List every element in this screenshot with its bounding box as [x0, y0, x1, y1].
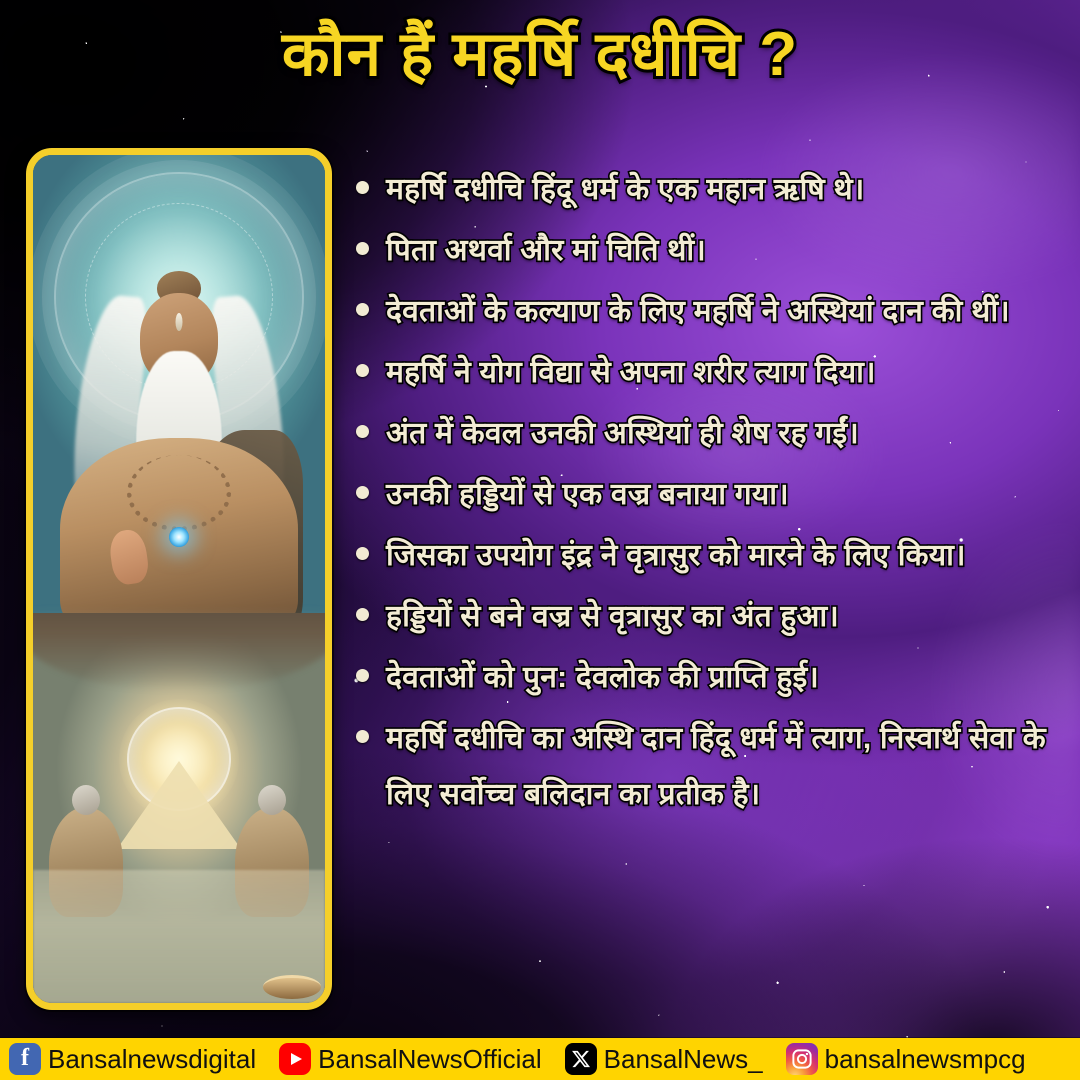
list-item: उनकी हड्डियों से एक वज्र बनाया गया।	[356, 467, 1056, 523]
list-item: देवताओं के कल्याण के लिए महर्षि ने अस्थि…	[356, 284, 1056, 340]
list-item-text: महर्षि ने योग विद्या से अपना शरीर त्याग …	[386, 345, 1056, 401]
bullet-dot-icon	[356, 730, 369, 743]
facebook-icon[interactable]: f	[9, 1043, 41, 1075]
list-item: अंत में केवल उनकी अस्थियां ही शेष रह गईं…	[356, 406, 1056, 462]
bullet-dot-icon	[356, 364, 369, 377]
list-item: महर्षि दधीचि का अस्थि दान हिंदू धर्म में…	[356, 711, 1056, 823]
stepped-altar	[117, 761, 241, 849]
bullet-dot-icon	[356, 181, 369, 194]
list-item: पिता अथर्वा और मां चिति थीं।	[356, 223, 1056, 279]
list-item-text: अंत में केवल उनकी अस्थियां ही शेष रह गईं…	[386, 406, 1056, 462]
list-item-text: महर्षि दधीचि हिंदू धर्म के एक महान ऋषि थ…	[386, 162, 1056, 218]
list-item-text: महर्षि दधीचि का अस्थि दान हिंदू धर्म में…	[386, 711, 1056, 823]
rudraksha-mala	[127, 455, 231, 531]
list-item-text: हड्डियों से बने वज्र से वृत्रासुर का अंत…	[386, 589, 1056, 645]
bullet-dot-icon	[356, 547, 369, 560]
social-account-x[interactable]: BansalNews_	[556, 1038, 771, 1080]
offering-bowl	[263, 975, 321, 999]
list-item-text: देवताओं को पुन: देवलोक की प्राप्ति हुई।	[386, 650, 1056, 706]
youtube-icon[interactable]	[279, 1043, 311, 1075]
social-account-instagram[interactable]: bansalnewsmpcg	[777, 1038, 1034, 1080]
list-item-text: पिता अथर्वा और मां चिति थीं।	[386, 223, 1056, 279]
glowing-gem	[169, 527, 189, 547]
sage-meditation-scene	[33, 155, 325, 630]
facts-list: महर्षि दधीचि हिंदू धर्म के एक महान ऋषि थ…	[356, 162, 1056, 828]
youtube-handle: BansalNewsOfficial	[318, 1046, 542, 1072]
list-item: महर्षि दधीचि हिंदू धर्म के एक महान ऋषि थ…	[356, 162, 1056, 218]
sage-tilak	[176, 313, 183, 331]
page-title: कौन हैं महर्षि दधीचि ?	[0, 16, 1080, 94]
list-item-text: देवताओं के कल्याण के लिए महर्षि ने अस्थि…	[386, 284, 1056, 340]
instagram-handle: bansalnewsmpcg	[825, 1046, 1026, 1072]
social-account-youtube[interactable]: BansalNewsOfficial	[270, 1038, 550, 1080]
illustration-card	[26, 148, 332, 1010]
bullet-dot-icon	[356, 608, 369, 621]
bullet-dot-icon	[356, 425, 369, 438]
facebook-handle: Bansalnewsdigital	[48, 1046, 256, 1072]
instagram-icon[interactable]	[786, 1043, 818, 1075]
bullet-dot-icon	[356, 303, 369, 316]
bullet-dot-icon	[356, 669, 369, 682]
social-footer-bar: f Bansalnewsdigital BansalNewsOfficial B…	[0, 1038, 1080, 1080]
cave-ceiling	[33, 613, 325, 691]
bullet-dot-icon	[356, 242, 369, 255]
sages-altar-scene	[33, 613, 325, 1003]
list-item: हड्डियों से बने वज्र से वृत्रासुर का अंत…	[356, 589, 1056, 645]
bullet-dot-icon	[356, 486, 369, 499]
x-twitter-icon[interactable]	[565, 1043, 597, 1075]
x-handle: BansalNews_	[604, 1046, 763, 1072]
list-item: जिसका उपयोग इंद्र ने वृत्रासुर को मारने …	[356, 528, 1056, 584]
list-item: देवताओं को पुन: देवलोक की प्राप्ति हुई।	[356, 650, 1056, 706]
list-item: महर्षि ने योग विद्या से अपना शरीर त्याग …	[356, 345, 1056, 401]
infographic-poster: कौन हैं महर्षि दधीचि ?	[0, 0, 1080, 1080]
list-item-text: जिसका उपयोग इंद्र ने वृत्रासुर को मारने …	[386, 528, 1056, 584]
illustration-inner	[33, 155, 325, 1003]
list-item-text: उनकी हड्डियों से एक वज्र बनाया गया।	[386, 467, 1056, 523]
social-account-facebook[interactable]: f Bansalnewsdigital	[0, 1038, 264, 1080]
